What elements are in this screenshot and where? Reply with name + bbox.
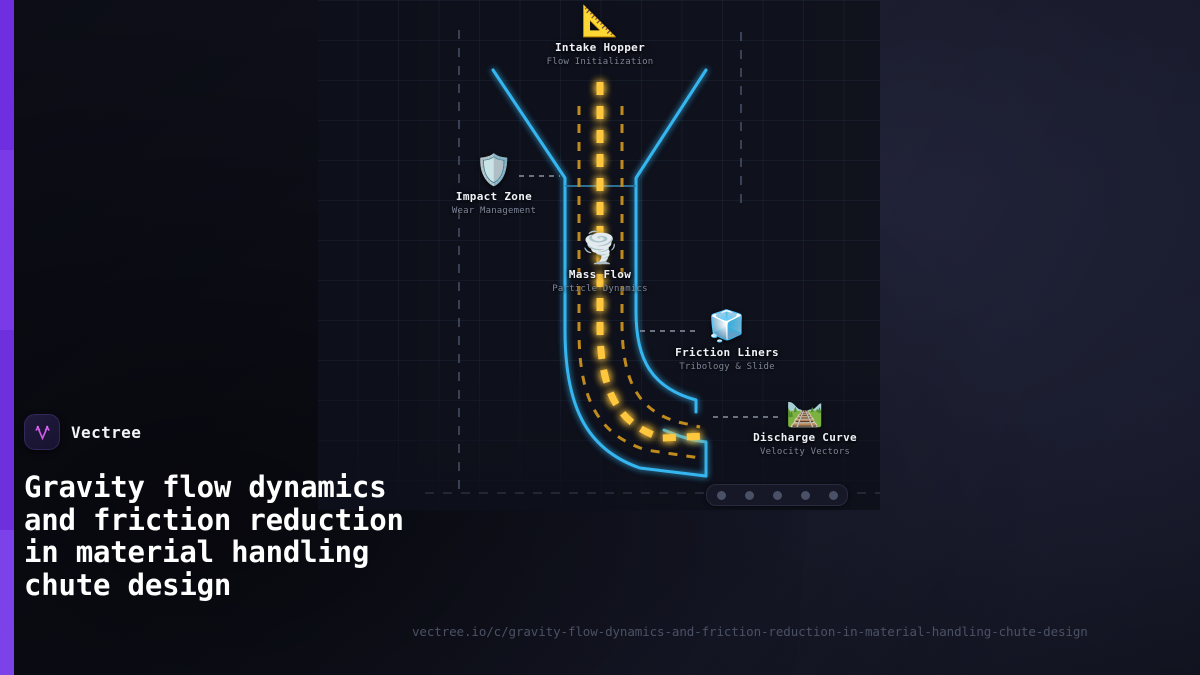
triangular-ruler-icon: 📐 [520, 6, 680, 38]
diagram-node-intake-hopper[interactable]: 📐 Intake Hopper Flow Initialization [520, 6, 680, 67]
node-subtitle: Flow Initialization [520, 57, 680, 67]
pagination-dot[interactable] [801, 491, 810, 500]
ice-cube-icon: 🧊 [647, 311, 807, 343]
diagram-node-mass-flow[interactable]: 🌪️ Mass Flow Particle Dynamics [520, 233, 680, 294]
vectree-logo-icon [24, 414, 60, 450]
page-title: Gravity flow dynamics and friction reduc… [24, 471, 424, 601]
node-subtitle: Particle Dynamics [520, 284, 680, 294]
v-mark-glyph [32, 422, 53, 443]
diagram-node-discharge-curve[interactable]: 🛤️ Discharge Curve Velocity Vectors [725, 396, 885, 457]
page-url: vectree.io/c/gravity-flow-dynamics-and-f… [412, 624, 1088, 639]
diagram-node-friction-liners[interactable]: 🧊 Friction Liners Tribology & Slide [647, 311, 807, 372]
slide-pagination[interactable] [706, 484, 848, 506]
node-title: Mass Flow [520, 268, 680, 281]
shield-icon: 🛡️ [414, 155, 574, 187]
node-title: Discharge Curve [725, 431, 885, 444]
node-title: Impact Zone [414, 190, 574, 203]
node-subtitle: Tribology & Slide [647, 362, 807, 372]
node-title: Friction Liners [647, 346, 807, 359]
tornado-icon: 🌪️ [520, 233, 680, 265]
pagination-dot[interactable] [829, 491, 838, 500]
diagram-node-impact-zone[interactable]: 🛡️ Impact Zone Wear Management [414, 155, 574, 216]
accent-bar [0, 0, 14, 675]
pagination-dot[interactable] [745, 491, 754, 500]
node-subtitle: Velocity Vectors [725, 447, 885, 457]
slide-canvas: 📐 Intake Hopper Flow Initialization 🛡️ I… [0, 0, 1200, 675]
pagination-dot[interactable] [773, 491, 782, 500]
node-title: Intake Hopper [520, 41, 680, 54]
pagination-dot[interactable] [717, 491, 726, 500]
node-subtitle: Wear Management [414, 206, 574, 216]
railway-track-icon: 🛤️ [725, 396, 885, 428]
brand-name: Vectree [71, 423, 141, 442]
brand-block[interactable]: Vectree [24, 414, 141, 450]
